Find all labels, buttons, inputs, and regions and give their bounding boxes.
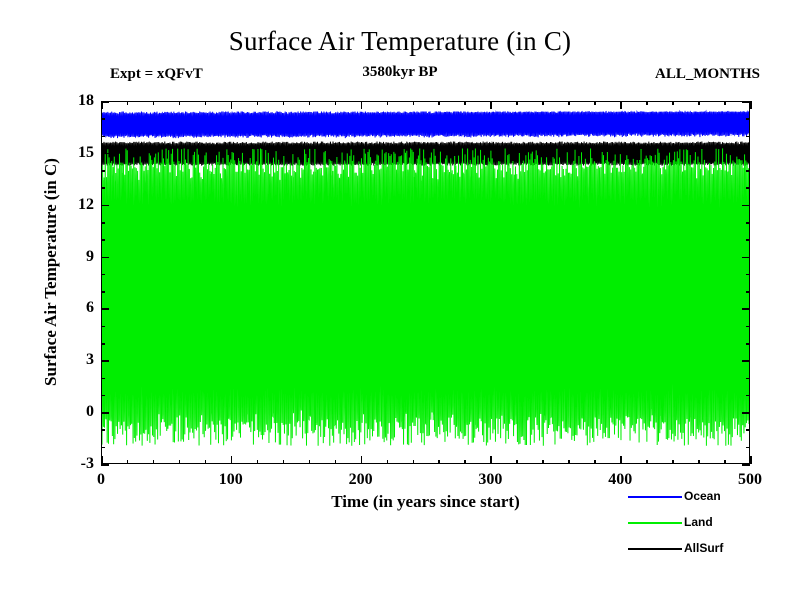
legend-label: AllSurf (684, 539, 723, 558)
x-tick-label: 500 (720, 472, 780, 488)
chart-page: Surface Air Temperature (in C) Expt = xQ… (0, 0, 800, 600)
x-tick-label: 400 (590, 472, 650, 488)
legend-item-land[interactable]: Land (628, 513, 793, 539)
legend-label: Land (684, 513, 713, 532)
legend-swatch-line (628, 496, 682, 498)
legend-swatch-line (628, 522, 682, 524)
legend-label: Ocean (684, 487, 721, 506)
legend-item-allsurf[interactable]: AllSurf (628, 539, 793, 565)
legend-item-ocean[interactable]: Ocean (628, 487, 793, 513)
x-tick-label: 0 (71, 472, 131, 488)
x-tick-label: 200 (331, 472, 391, 488)
legend-swatch-line (628, 548, 682, 550)
legend: OceanLandAllSurf (628, 487, 793, 565)
x-tick-label: 100 (201, 472, 261, 488)
x-tick-label: 300 (460, 472, 520, 488)
